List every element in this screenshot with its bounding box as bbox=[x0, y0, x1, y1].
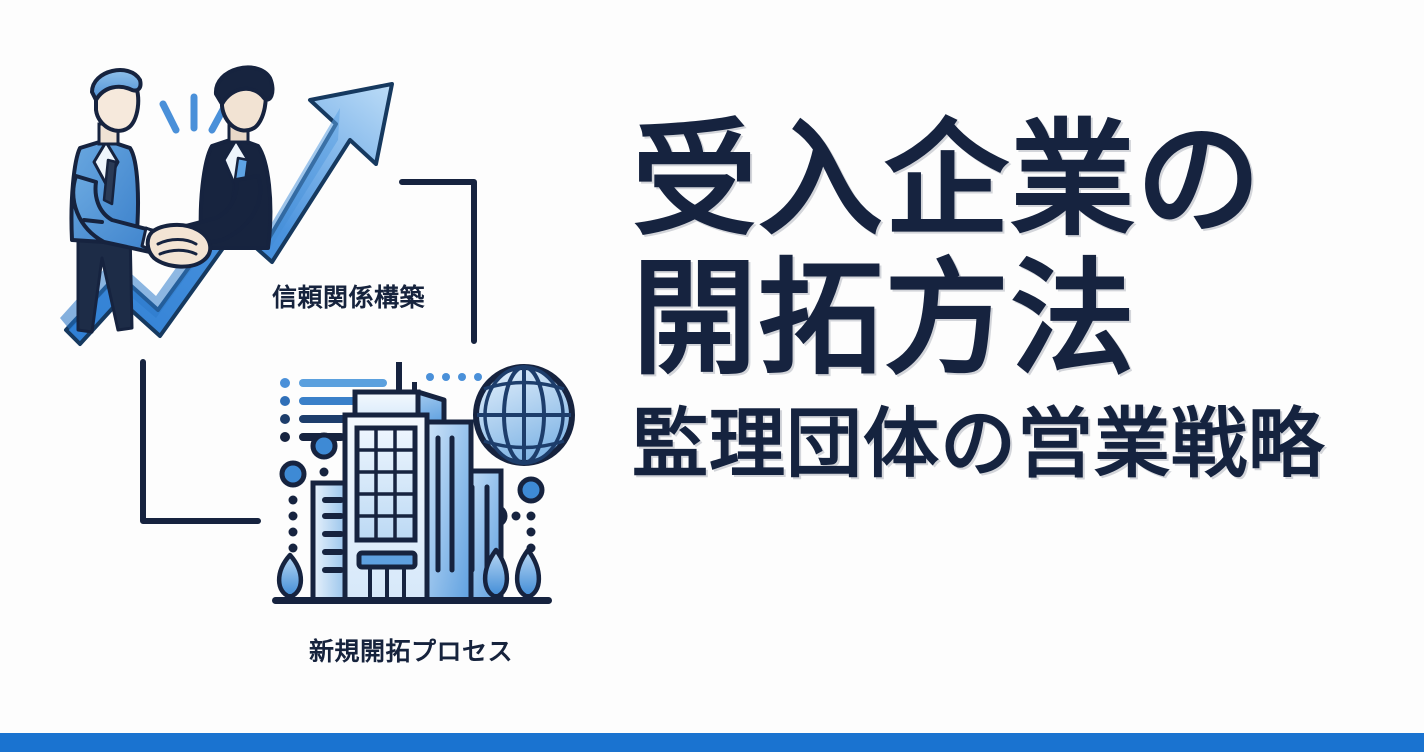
office-tower-main bbox=[345, 392, 444, 600]
globe-icon bbox=[476, 367, 572, 463]
bracket-bottom-left bbox=[143, 362, 258, 521]
bracket-top-right bbox=[402, 182, 474, 341]
tree-left bbox=[279, 555, 301, 600]
office-building-scene bbox=[272, 362, 572, 604]
page-title-line-1: 受入企業の bbox=[632, 118, 1392, 243]
tree-right-b bbox=[517, 550, 539, 600]
label-trust-building: 信頼関係構築 bbox=[272, 278, 425, 314]
handshake-icon bbox=[148, 225, 211, 267]
page-subtitle: 監理団体の営業戦略 bbox=[632, 406, 1392, 482]
mid-building-right bbox=[427, 422, 471, 600]
label-new-development-process: 新規開拓プロセス bbox=[309, 632, 513, 668]
bottom-accent-bar bbox=[0, 733, 1424, 752]
illustration-panel: 信頼関係構築 新規開拓プロセス bbox=[0, 0, 620, 700]
dot-trail-left-b bbox=[282, 463, 304, 569]
sparkle-lines-icon bbox=[163, 97, 226, 130]
title-block: 受入企業の 開拓方法 監理団体の営業戦略 bbox=[632, 118, 1392, 482]
poster-canvas: 信頼関係構築 新規開拓プロセス 受入企業の 開拓方法 監理団体の営業戦略 bbox=[0, 0, 1424, 752]
ground-line bbox=[272, 597, 552, 604]
dotted-trail-top bbox=[426, 373, 482, 381]
page-title-line-2: 開拓方法 bbox=[632, 257, 1392, 382]
